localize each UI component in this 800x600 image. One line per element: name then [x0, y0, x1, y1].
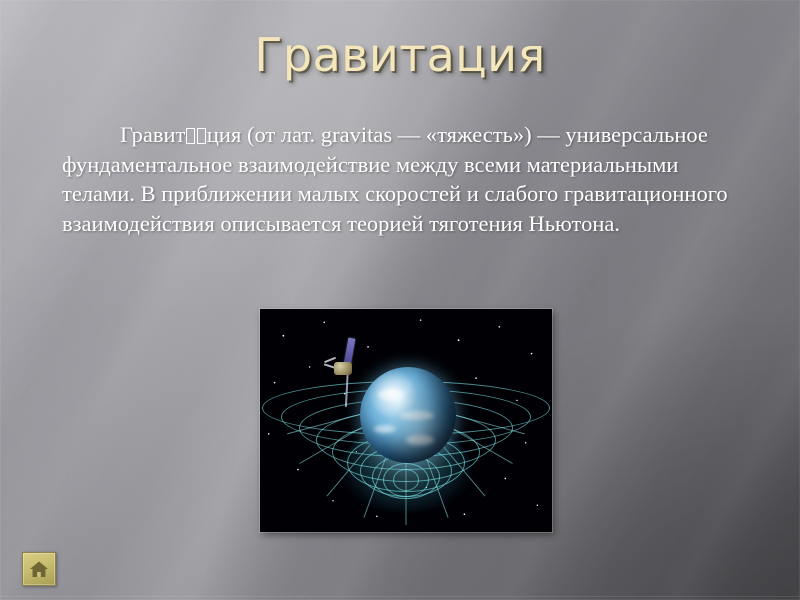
- terminator-shadow: [360, 367, 456, 463]
- presentation-slide: Гравитация Гравитция (от лат. gravitas —…: [0, 0, 800, 600]
- missing-glyph-box: [197, 128, 206, 144]
- satellite-body: [334, 362, 352, 375]
- body-lead-suffix: ция: [207, 122, 241, 147]
- footer-divider: [0, 596, 800, 597]
- body-lead-prefix: Гравит: [120, 122, 185, 147]
- spacetime-curvature-image: [260, 309, 552, 532]
- missing-glyph-box: [186, 128, 195, 144]
- home-button[interactable]: [22, 552, 56, 586]
- slide-title: Гравитация: [0, 30, 800, 81]
- home-icon: [29, 560, 49, 578]
- earth-globe: [360, 367, 456, 463]
- slide-body-text: Гравитция (от лат. gravitas — «тяжесть»)…: [62, 120, 752, 238]
